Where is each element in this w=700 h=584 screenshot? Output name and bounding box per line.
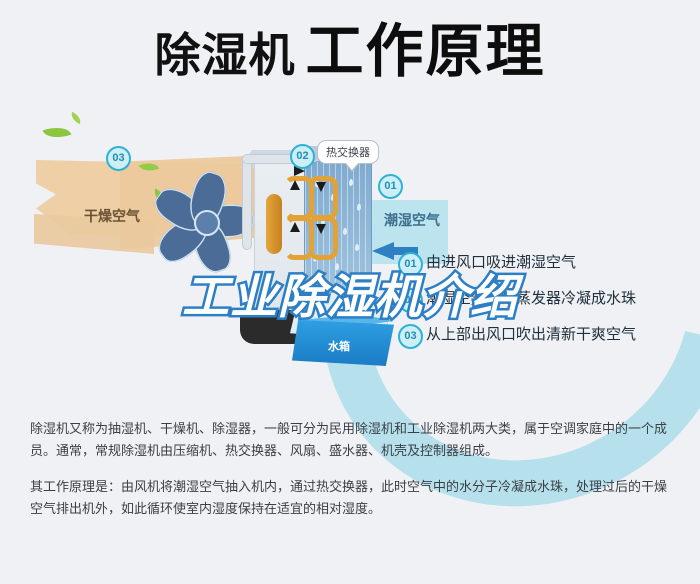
body-copy: 除湿机又称为抽湿机、干燥机、除湿器，一般可分为民用除湿机和工业除湿机两大类，属于… — [30, 418, 676, 534]
leaf-icon — [69, 112, 83, 124]
page-title-part2: 工作原理 — [305, 17, 545, 85]
flow-arrow-icon — [290, 222, 300, 232]
pipe-icon — [242, 156, 252, 250]
leaf-icon — [43, 122, 72, 142]
page-title-part1: 除湿机 — [154, 28, 295, 82]
humid-air-label: 潮湿空气 — [384, 210, 440, 230]
flow-arrow-icon — [316, 224, 326, 234]
paragraph-1: 除湿机又称为抽湿机、干燥机、除湿器，一般可分为民用除湿机和工业除湿机两大类，属于… — [30, 418, 676, 462]
callout-badge-01: 01 — [378, 174, 403, 199]
dry-air-label: 干燥空气 — [84, 206, 140, 226]
watermark-title: 工业除湿机介绍 — [0, 258, 700, 327]
callout-badge-03: 03 — [106, 146, 131, 171]
page-root: 除湿机工作原理 — [0, 0, 700, 566]
paragraph-2: 其工作原理是：由风机将潮湿空气抽入机内，通过热交换器，此时空气中的水分子冷凝成水… — [30, 476, 676, 520]
page-title: 除湿机工作原理 — [0, 22, 700, 80]
pipe-icon — [242, 154, 296, 164]
step-text: 从上部出风口吹出清新干爽空气 — [426, 324, 636, 345]
callout-badge-02: 02 — [290, 144, 315, 169]
list-item: 03 从上部出风口吹出清新干爽空气 — [398, 322, 698, 358]
compressor-cylinder-icon — [266, 194, 282, 254]
water-tank-label: 水箱 — [328, 338, 350, 354]
step-badge: 03 — [398, 324, 423, 349]
heat-exchanger-callout-bubble: 热交换器 — [317, 140, 379, 164]
flow-arrow-icon — [290, 180, 300, 190]
flow-arrow-icon — [316, 182, 326, 192]
coil-icon — [308, 216, 338, 260]
